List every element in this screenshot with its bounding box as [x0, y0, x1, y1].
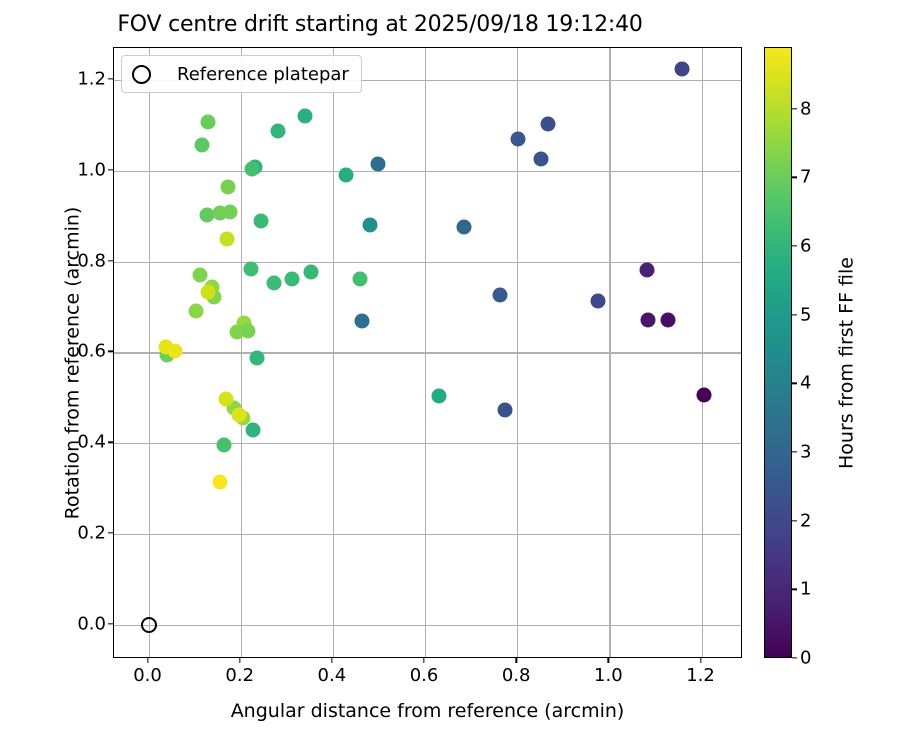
x-tick-label-2: 0.4 [318, 665, 347, 686]
legend-item-label: Reference platepar [177, 64, 349, 85]
x-tick-label-4: 0.8 [502, 665, 531, 686]
scatter-point [200, 284, 215, 299]
scatter-point [220, 180, 235, 195]
scatter-point [339, 168, 354, 183]
x-tick-mark-6 [700, 658, 701, 663]
x-tick-mark-1 [239, 658, 240, 663]
scatter-point [168, 343, 183, 358]
colorbar-tick-label-6: 6 [800, 236, 811, 257]
scatter-point [219, 391, 234, 406]
page-title: FOV centre drift starting at 2025/09/18 … [0, 12, 760, 37]
colorbar-label: Hours from first FF file [836, 58, 858, 669]
scatter-point [193, 268, 208, 283]
y-tick-label-4: 0.8 [77, 250, 106, 271]
colorbar-tick-mark-8 [792, 108, 797, 109]
x-tick-mark-3 [423, 658, 424, 663]
figure-root: FOV centre drift starting at 2025/09/18 … [0, 0, 900, 750]
colorbar-tick-mark-6 [792, 245, 797, 246]
scatter-point [540, 116, 555, 131]
scatter-point [661, 312, 676, 327]
colorbar-tick-mark-4 [792, 383, 797, 384]
plot-area [113, 47, 742, 658]
x-tick-label-0: 0.0 [133, 665, 162, 686]
colorbar-tick-label-5: 5 [800, 304, 811, 325]
scatter-point [241, 324, 256, 339]
colorbar-tick-label-3: 3 [800, 442, 811, 463]
scatter-point [355, 314, 370, 329]
colorbar-tick-label-7: 7 [800, 167, 811, 188]
scatter-point [245, 423, 260, 438]
colorbar-tick-label-8: 8 [800, 98, 811, 119]
x-tick-label-1: 0.2 [225, 665, 254, 686]
scatter-point [432, 388, 447, 403]
gridline-horizontal-5 [114, 171, 741, 172]
scatter-point [498, 402, 513, 417]
scatter-point [352, 271, 367, 286]
y-tick-mark-0 [108, 623, 113, 624]
colorbar [764, 47, 792, 658]
scatter-point [639, 262, 654, 277]
scatter-point [250, 350, 265, 365]
colorbar-tick-label-4: 4 [800, 373, 811, 394]
scatter-point [253, 213, 268, 228]
x-tick-label-6: 1.2 [686, 665, 715, 686]
x-tick-mark-2 [331, 658, 332, 663]
x-tick-label-5: 1.0 [594, 665, 623, 686]
colorbar-tick-label-0: 0 [800, 648, 811, 669]
y-tick-label-6: 1.2 [77, 68, 106, 89]
scatter-point [201, 115, 216, 130]
y-tick-mark-5 [108, 169, 113, 170]
gridline-horizontal-2 [114, 443, 741, 444]
scatter-point [456, 219, 471, 234]
scatter-point [304, 265, 319, 280]
reference-platepar-marker-icon [132, 65, 151, 84]
y-tick-label-0: 0.0 [77, 613, 106, 634]
scatter-point [363, 218, 378, 233]
colorbar-tick-label-1: 1 [800, 579, 811, 600]
y-tick-label-1: 0.2 [77, 523, 106, 544]
y-tick-label-2: 0.4 [77, 432, 106, 453]
scatter-point [223, 205, 238, 220]
gridline-horizontal-0 [114, 625, 741, 626]
x-tick-mark-4 [516, 658, 517, 663]
scatter-point [696, 388, 711, 403]
scatter-point [640, 313, 655, 328]
scatter-point [510, 132, 525, 147]
y-tick-mark-4 [108, 260, 113, 261]
gridline-horizontal-3 [114, 352, 741, 353]
y-tick-mark-3 [108, 351, 113, 352]
scatter-point [189, 304, 204, 319]
y-tick-mark-1 [108, 532, 113, 533]
y-tick-label-5: 1.0 [77, 159, 106, 180]
legend: Reference platepar [121, 55, 362, 93]
scatter-point [492, 287, 507, 302]
y-tick-mark-6 [108, 78, 113, 79]
colorbar-tick-mark-0 [792, 657, 797, 658]
scatter-point [271, 124, 286, 139]
x-axis-label: Angular distance from reference (arcmin) [113, 700, 742, 722]
x-tick-mark-0 [147, 658, 148, 663]
scatter-point [675, 62, 690, 77]
colorbar-tick-mark-2 [792, 520, 797, 521]
y-axis-label: Rotation from reference (arcmin) [62, 58, 84, 669]
scatter-point [244, 162, 259, 177]
reference-platepar-point [141, 617, 157, 633]
scatter-point [216, 438, 231, 453]
scatter-point [590, 294, 605, 309]
y-tick-label-3: 0.6 [77, 341, 106, 362]
scatter-point [371, 157, 386, 172]
x-tick-label-3: 0.6 [410, 665, 439, 686]
scatter-point [212, 475, 227, 490]
colorbar-tick-mark-1 [792, 589, 797, 590]
scatter-point [219, 232, 234, 247]
scatter-point [195, 138, 210, 153]
y-tick-mark-2 [108, 442, 113, 443]
colorbar-tick-mark-3 [792, 451, 797, 452]
colorbar-tick-mark-7 [792, 177, 797, 178]
scatter-point [284, 271, 299, 286]
scatter-point [243, 261, 258, 276]
scatter-point [231, 407, 246, 422]
scatter-point [267, 276, 282, 291]
x-tick-mark-5 [608, 658, 609, 663]
colorbar-tick-label-2: 2 [800, 510, 811, 531]
scatter-point [297, 108, 312, 123]
gridline-horizontal-1 [114, 534, 741, 535]
colorbar-tick-mark-5 [792, 314, 797, 315]
scatter-point [534, 151, 549, 166]
